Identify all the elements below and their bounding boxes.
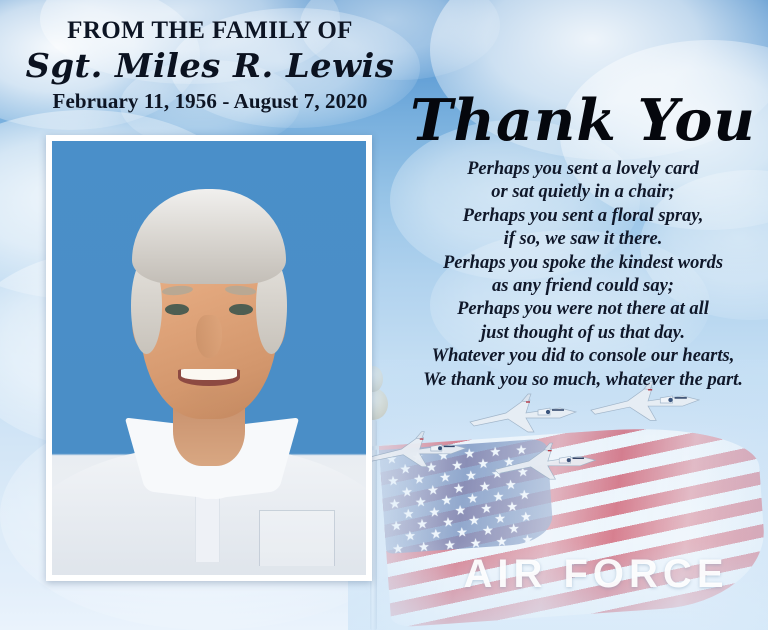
f16-jet-icon	[489, 437, 601, 488]
thank-you-title: Thank You	[398, 92, 768, 149]
poem-line: as any friend could say;	[398, 275, 768, 298]
portrait-hair	[132, 189, 286, 284]
portrait-photo	[52, 141, 366, 575]
portrait-pocket	[259, 510, 334, 566]
thank-you-block: Thank You Perhaps you sent a lovely card…	[398, 92, 768, 392]
portrait-eye-left	[165, 304, 189, 315]
poem-line: We thank you so much, whatever the part.	[398, 369, 768, 392]
portrait-eye-right	[229, 304, 253, 315]
memorial-header: FROM THE FAMILY OF Sgt. Miles R. Lewis F…	[0, 18, 420, 114]
deceased-name: Sgt. Miles R. Lewis	[0, 48, 424, 85]
poem-line: Perhaps you sent a lovely card	[398, 158, 768, 181]
poem-line: if so, we saw it there.	[398, 228, 768, 251]
memorial-thank-you-card: FROM THE FAMILY OF Sgt. Miles R. Lewis F…	[0, 0, 768, 630]
poem-line: just thought of us that day.	[398, 322, 768, 345]
portrait-chin	[171, 388, 246, 418]
poem-line: Perhaps you sent a floral spray,	[398, 205, 768, 228]
from-family-line: FROM THE FAMILY OF	[0, 18, 420, 44]
portrait-nose	[196, 315, 221, 358]
poem-line: Whatever you did to console our hearts,	[398, 345, 768, 368]
poem-line: Perhaps you were not there at all	[398, 298, 768, 321]
poem-line: or sat quietly in a chair;	[398, 181, 768, 204]
thank-you-poem: Perhaps you sent a lovely card or sat qu…	[398, 158, 768, 392]
portrait-teeth	[181, 369, 236, 380]
poem-line: Perhaps you spoke the kindest words	[398, 252, 768, 275]
f16-jet-icon	[363, 426, 472, 476]
portrait-frame	[46, 135, 372, 581]
f16-jet-icon	[464, 388, 582, 442]
life-dates: February 11, 1956 - August 7, 2020	[0, 89, 420, 114]
air-force-wordmark: AIR FORCE	[446, 552, 746, 597]
